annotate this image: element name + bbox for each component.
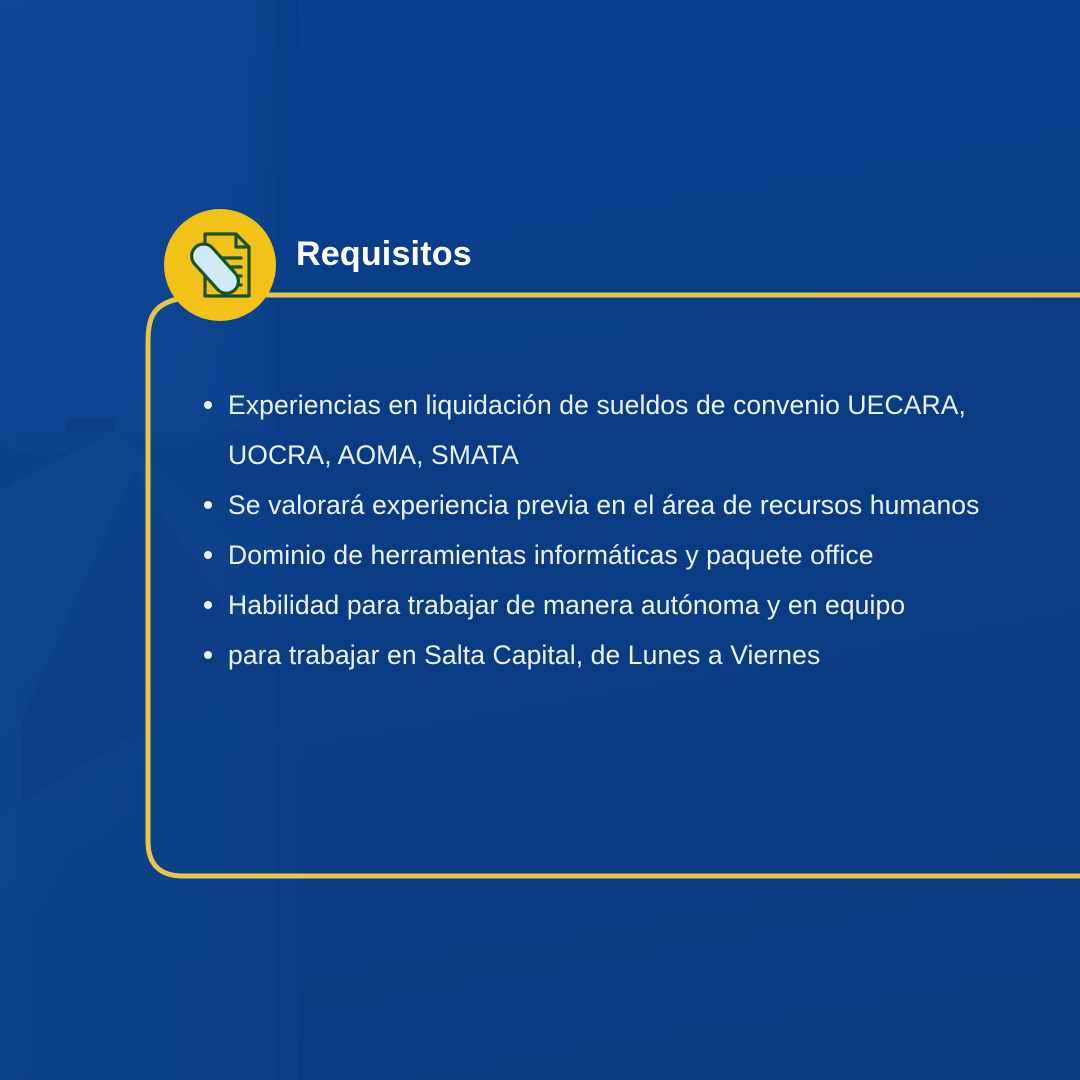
list-item: Se valorará experiencia previa en el áre… xyxy=(196,480,1064,530)
bullet-dot-icon xyxy=(204,651,212,659)
bullet-dot-icon xyxy=(204,551,212,559)
requirements-card: Requisitos Experiencias en liquidación d… xyxy=(0,0,1080,1080)
list-item: Habilidad para trabajar de manera autóno… xyxy=(196,580,1064,630)
list-item: para trabajar en Salta Capital, de Lunes… xyxy=(196,630,1064,680)
list-item: Experiencias en liquidación de sueldos d… xyxy=(196,380,1064,480)
list-item-text: Dominio de herramientas informáticas y p… xyxy=(228,540,874,570)
list-item-text: Se valorará experiencia previa en el áre… xyxy=(228,490,979,520)
requirements-list: Experiencias en liquidación de sueldos d… xyxy=(196,380,1064,680)
list-item-text: para trabajar en Salta Capital, de Lunes… xyxy=(228,640,820,670)
page-title: Requisitos xyxy=(296,236,472,273)
bullet-dot-icon xyxy=(204,601,212,609)
list-item: Dominio de herramientas informáticas y p… xyxy=(196,530,1064,580)
bullet-dot-icon xyxy=(204,401,212,409)
requirements-icon-badge xyxy=(164,209,276,321)
list-item-text: Habilidad para trabajar de manera autóno… xyxy=(228,590,905,620)
bullet-dot-icon xyxy=(204,501,212,509)
document-paperclip-icon xyxy=(181,226,259,304)
list-item-text: Experiencias en liquidación de sueldos d… xyxy=(228,390,966,470)
